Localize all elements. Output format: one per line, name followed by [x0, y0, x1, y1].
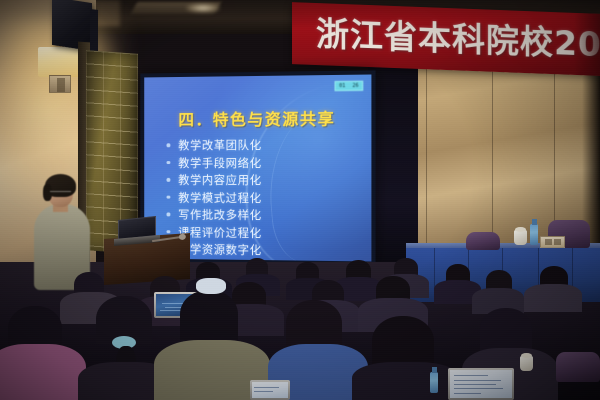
presenter-figure — [34, 178, 90, 290]
banner-shadow-fold — [574, 13, 600, 76]
slide-title: 四．特色与资源共享 — [144, 105, 371, 131]
conference-hall-scene: 浙江省本科院校200 01 26 四．特色与资源共享 教学改革团队化 教学手段网… — [0, 0, 600, 400]
projector-status-indicator: 01 26 — [335, 81, 364, 91]
table-nameplate — [540, 236, 565, 248]
slide-bullet-item: 教学内容应用化 — [166, 173, 262, 187]
indicator-left-value: 01 — [339, 83, 345, 89]
teacup — [514, 230, 527, 245]
sconce-shade — [38, 47, 82, 77]
slide-bullet-item: 教学手段网络化 — [166, 155, 262, 169]
slide-bullet-item: 写作批改多样化 — [166, 207, 262, 222]
indicator-right-value: 26 — [352, 83, 358, 89]
slide-bullet-item: 教学改革团队化 — [166, 138, 262, 152]
slide-bullet-item: 教学模式过程化 — [166, 190, 262, 204]
ceiling-downlight — [186, 4, 220, 12]
water-bottle — [530, 224, 538, 245]
banner-title-text: 浙江省本科院校200 — [316, 15, 600, 65]
red-conference-banner: 浙江省本科院校200 — [292, 2, 600, 76]
sconce-base — [49, 75, 71, 93]
wall-sconce-lamp — [38, 47, 82, 89]
purple-chair — [466, 232, 500, 250]
presenter-body — [34, 204, 90, 290]
presenter-glasses-icon — [50, 191, 71, 197]
head-table-skirt — [406, 248, 600, 302]
